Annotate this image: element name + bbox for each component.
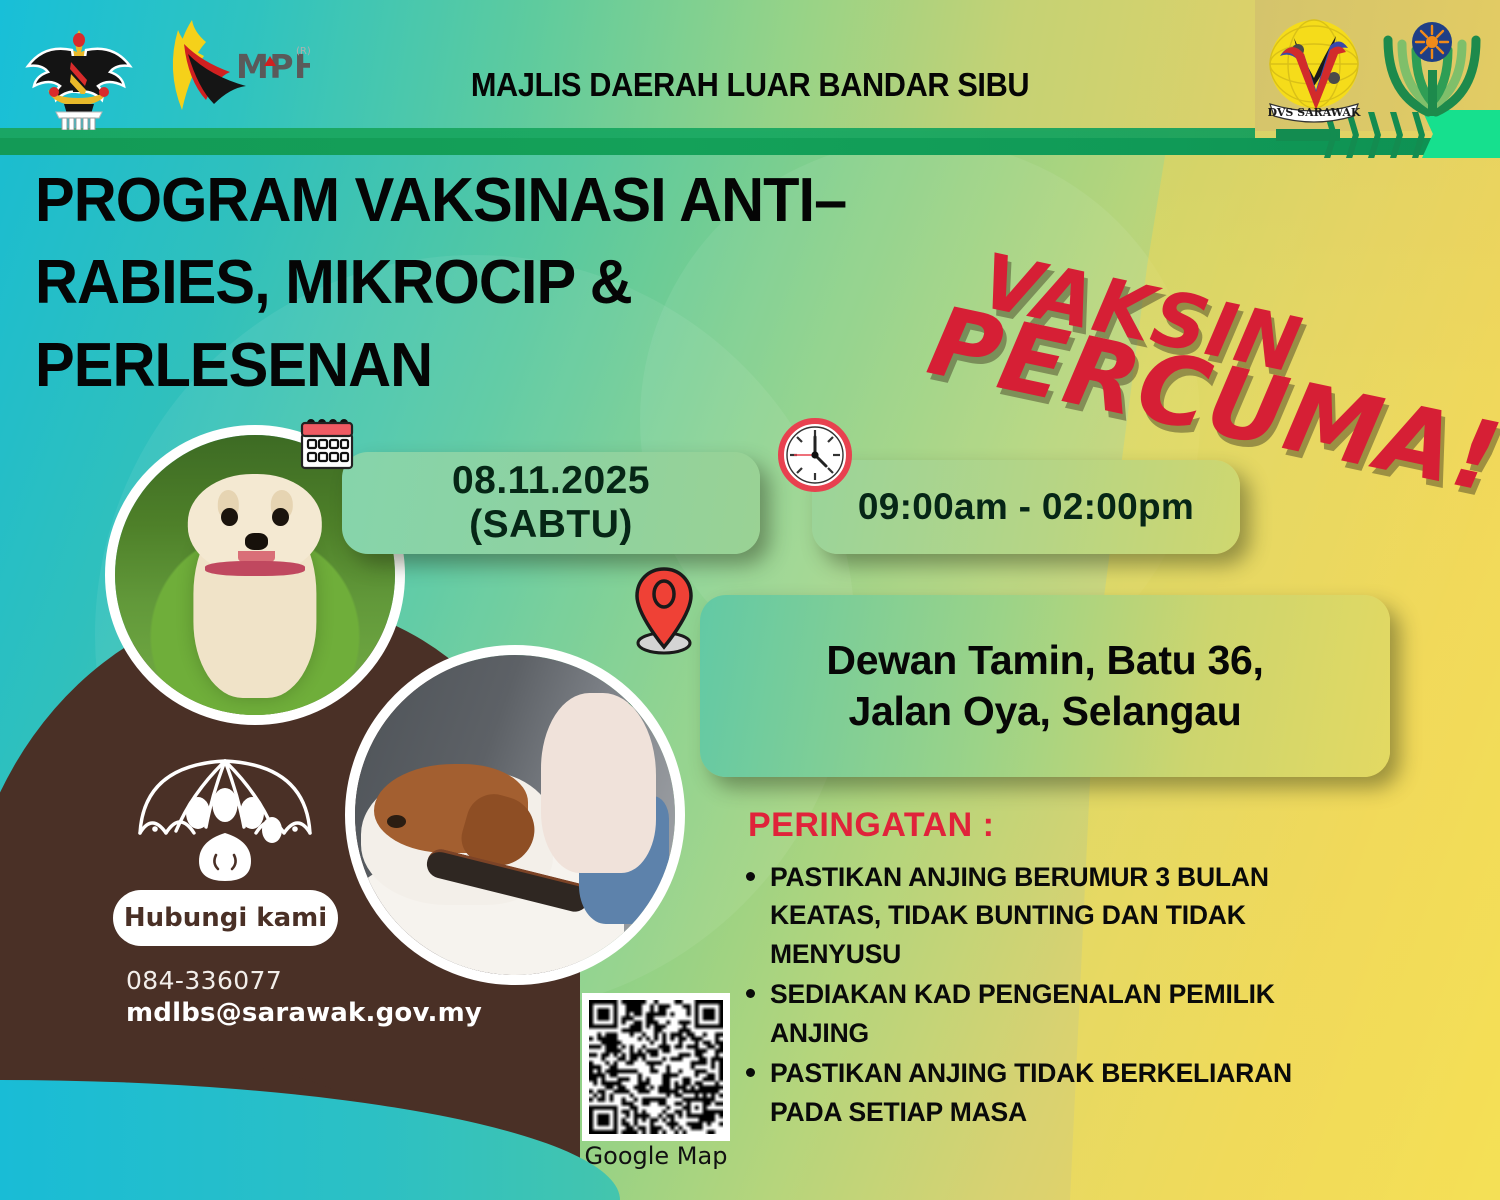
event-location-line-1: Dewan Tamin, Batu 36, xyxy=(826,635,1263,686)
page-title: PROGRAM VAKSINASI ANTI– RABIES, MIKROCIP… xyxy=(35,160,1053,407)
poster-canvas: MPHLG (R) DVS SARAWAK xyxy=(0,0,1500,1200)
qr-code-icon[interactable] xyxy=(582,993,730,1141)
svg-text:DVS SARAWAK: DVS SARAWAK xyxy=(1267,106,1360,119)
list-item: PASTIKAN ANJING TIDAK BERKELIARAN PADA S… xyxy=(770,1054,1368,1131)
event-time: 09:00am - 02:00pm xyxy=(858,486,1194,528)
contact-phone[interactable]: 084-336077 xyxy=(126,966,282,995)
umbrella-paw-icon xyxy=(130,755,320,890)
qr-code-canvas xyxy=(589,1000,723,1134)
event-time-badge: 09:00am - 02:00pm xyxy=(812,460,1240,554)
reminder-list: PASTIKAN ANJING BERUMUR 3 BULAN KEATAS, … xyxy=(738,858,1368,1133)
clock-icon xyxy=(778,418,852,492)
page-title-line-3: PERLESENAN xyxy=(35,325,1053,407)
svg-text:(R): (R) xyxy=(296,46,310,57)
contact-us-button[interactable]: Hubungi kami xyxy=(113,890,338,946)
calendar-icon xyxy=(300,418,354,470)
qr-code-label: Google Map xyxy=(582,1142,730,1170)
page-title-line-2: RABIES, MIKROCIP & xyxy=(35,242,1053,324)
list-item: PASTIKAN ANJING BERUMUR 3 BULAN KEATAS, … xyxy=(770,858,1368,973)
map-pin-icon xyxy=(628,565,700,657)
contact-us-label: Hubungi kami xyxy=(124,903,327,933)
event-day: (SABTU) xyxy=(452,503,650,547)
list-item: SEDIAKAN KAD PENGENALAN PEMILIK ANJING xyxy=(770,975,1368,1052)
event-date-badge: 08.11.2025 (SABTU) xyxy=(342,452,760,554)
event-location-badge: Dewan Tamin, Batu 36, Jalan Oya, Selanga… xyxy=(700,595,1390,777)
dog-vaccination-photo xyxy=(345,645,685,985)
event-date: 08.11.2025 xyxy=(452,459,650,503)
organization-title: MAJLIS DAERAH LUAR BANDAR SIBU xyxy=(53,66,1448,104)
reminder-heading: PERINGATAN : xyxy=(748,806,995,845)
header-green-divider xyxy=(0,138,1500,155)
contact-email[interactable]: mdlbs@sarawak.gov.my xyxy=(126,998,482,1028)
page-title-line-1: PROGRAM VAKSINASI ANTI– xyxy=(35,160,1053,242)
event-location-line-2: Jalan Oya, Selangau xyxy=(826,686,1263,737)
